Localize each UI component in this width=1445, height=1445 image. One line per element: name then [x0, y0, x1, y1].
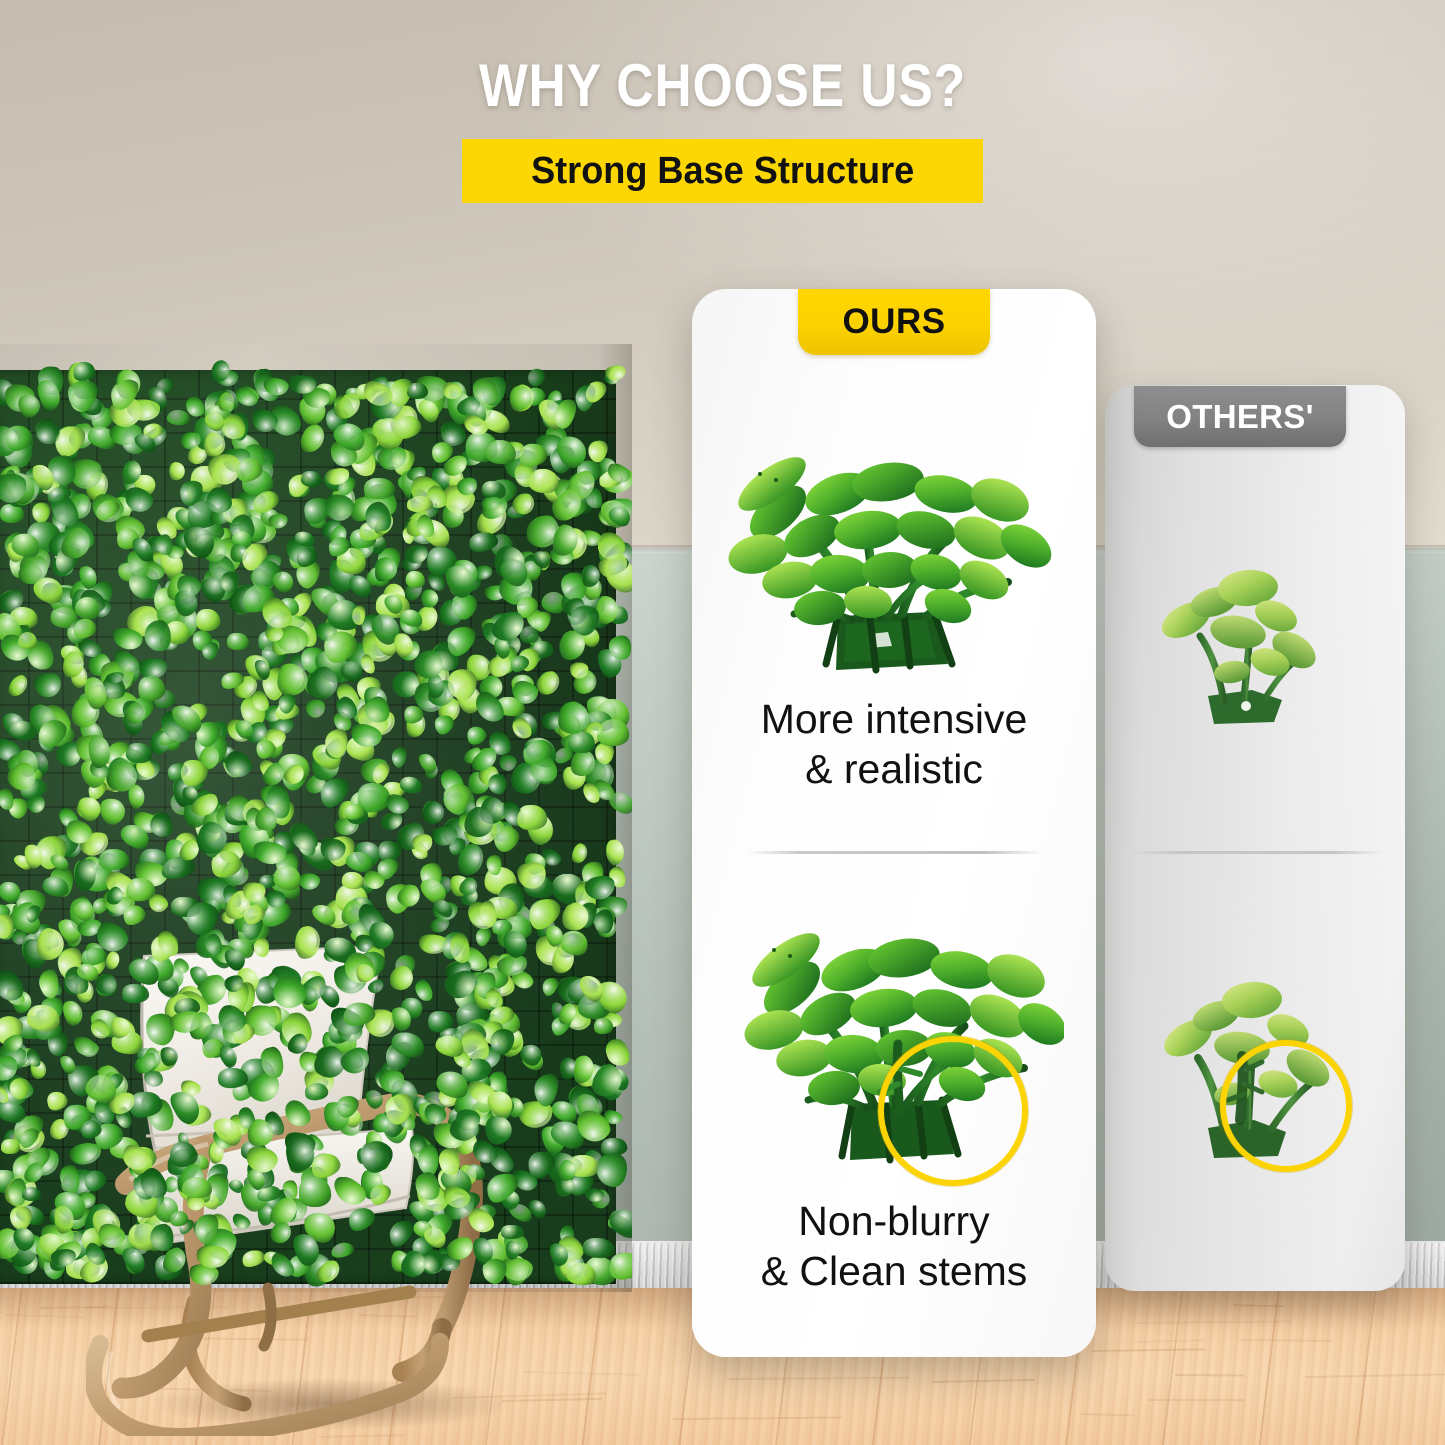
floor-seam	[1081, 1413, 1135, 1417]
floor-seam	[1148, 1399, 1244, 1401]
floor-seam	[727, 1377, 909, 1380]
floor-seam	[1305, 1373, 1445, 1378]
product-comparison-infographic: OTHERS'	[0, 0, 1445, 1445]
floor-seam	[933, 1379, 1035, 1383]
floor-seam	[1175, 1374, 1245, 1376]
floor-seam	[673, 1417, 843, 1420]
floor-seam	[1092, 1348, 1205, 1352]
floor-seam	[1134, 1339, 1205, 1343]
floor-seam	[1239, 1339, 1333, 1342]
